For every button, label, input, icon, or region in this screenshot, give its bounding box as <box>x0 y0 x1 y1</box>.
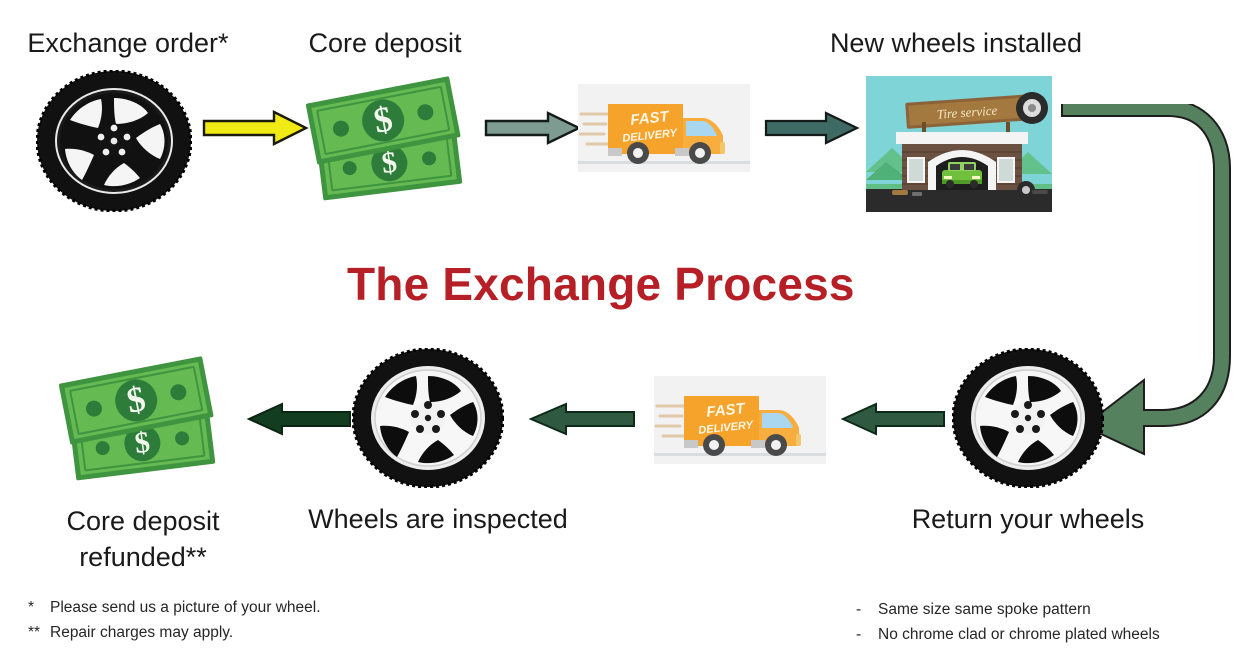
footnote-left-1-text: Please send us a picture of your wheel. <box>50 599 321 616</box>
footnote-left-2-text: Repair charges may apply. <box>50 624 233 641</box>
delivery-truck-return-icon: FAST DELIVERY <box>654 376 826 464</box>
step-label-wheels-inspected: Wheels are inspected <box>300 503 576 537</box>
wheel-silver-return-icon <box>952 348 1104 488</box>
arrow-order-to-deposit <box>202 109 310 147</box>
footnote-left-2: **Repair charges may apply. <box>28 619 233 646</box>
footnote-left-2-marker: ** <box>28 619 50 646</box>
footnote-right-1-marker: - <box>856 596 878 623</box>
step-label-core-deposit-refunded: Core deposit refunded** <box>30 503 256 576</box>
cash-icon: $ $ <box>305 72 477 202</box>
delivery-truck-icon: FAST DELIVERY <box>578 84 750 172</box>
footnote-left-1: *Please send us a picture of your wheel. <box>28 594 321 621</box>
cash-refund-icon: $ $ <box>58 352 230 482</box>
footnote-right-1: -Same size same spoke pattern <box>856 596 1091 623</box>
arrow-inspected-to-refund <box>246 401 352 437</box>
exchange-process-diagram: Exchange order* Core deposit New wheels … <box>0 0 1250 666</box>
footnote-left-1-marker: * <box>28 594 50 621</box>
wheel-silver-inspected-icon <box>352 348 504 488</box>
wheel-black-icon <box>36 70 192 212</box>
footnote-right-1-text: Same size same spoke pattern <box>878 601 1091 618</box>
step-label-new-wheels-installed: New wheels installed <box>810 27 1102 61</box>
arrow-truck-to-shop <box>764 110 860 146</box>
tire-service-shop-icon: Tire service <box>866 76 1052 212</box>
footnote-right-2: -No chrome clad or chrome plated wheels <box>856 621 1160 648</box>
footnote-right-2-text: No chrome clad or chrome plated wheels <box>878 626 1160 643</box>
page-title: The Exchange Process <box>347 257 855 311</box>
footnote-right-2-marker: - <box>856 621 878 648</box>
arrow-truck-to-inspected <box>528 401 636 437</box>
step-label-return-your-wheels: Return your wheels <box>898 503 1158 537</box>
arrow-deposit-to-truck <box>484 110 582 146</box>
step-label-core-deposit: Core deposit <box>282 27 488 61</box>
arrow-return-to-truck <box>840 401 946 437</box>
step-label-exchange-order: Exchange order* <box>0 27 256 61</box>
